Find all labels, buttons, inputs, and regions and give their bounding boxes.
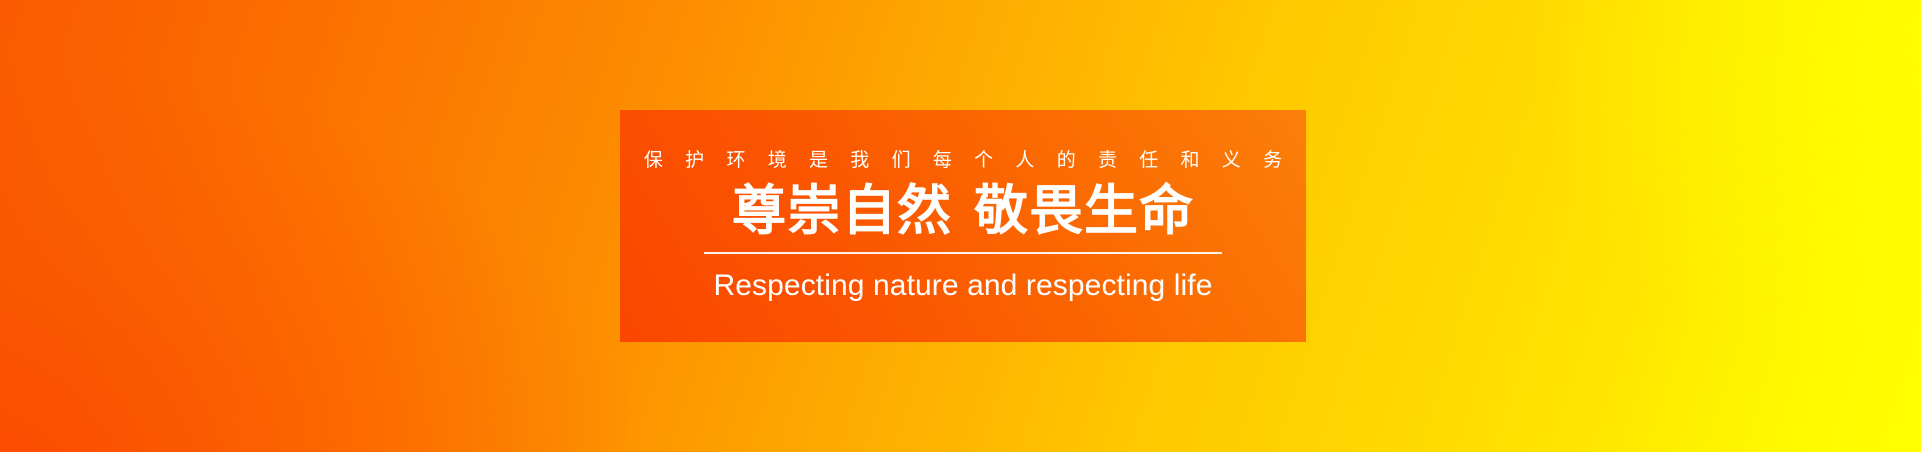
headline-part-1: 尊崇自然 xyxy=(732,181,952,241)
headline-part-2: 敬畏生命 xyxy=(974,181,1194,241)
eyebrow-text: 保 护 环 境 是 我 们 每 个 人 的 责 任 和 义 务 xyxy=(635,151,1290,170)
slogan-card-content: 保 护 环 境 是 我 们 每 个 人 的 责 任 和 义 务 尊崇自然敬畏生命… xyxy=(620,110,1306,342)
divider-rule xyxy=(704,252,1222,254)
tagline-text: Respecting nature and respecting life xyxy=(713,271,1212,301)
slogan-card: 保 护 环 境 是 我 们 每 个 人 的 责 任 和 义 务 尊崇自然敬畏生命… xyxy=(620,110,1306,342)
promo-banner: 保 护 环 境 是 我 们 每 个 人 的 责 任 和 义 务 尊崇自然敬畏生命… xyxy=(0,0,1921,452)
headline: 尊崇自然敬畏生命 xyxy=(732,183,1194,239)
